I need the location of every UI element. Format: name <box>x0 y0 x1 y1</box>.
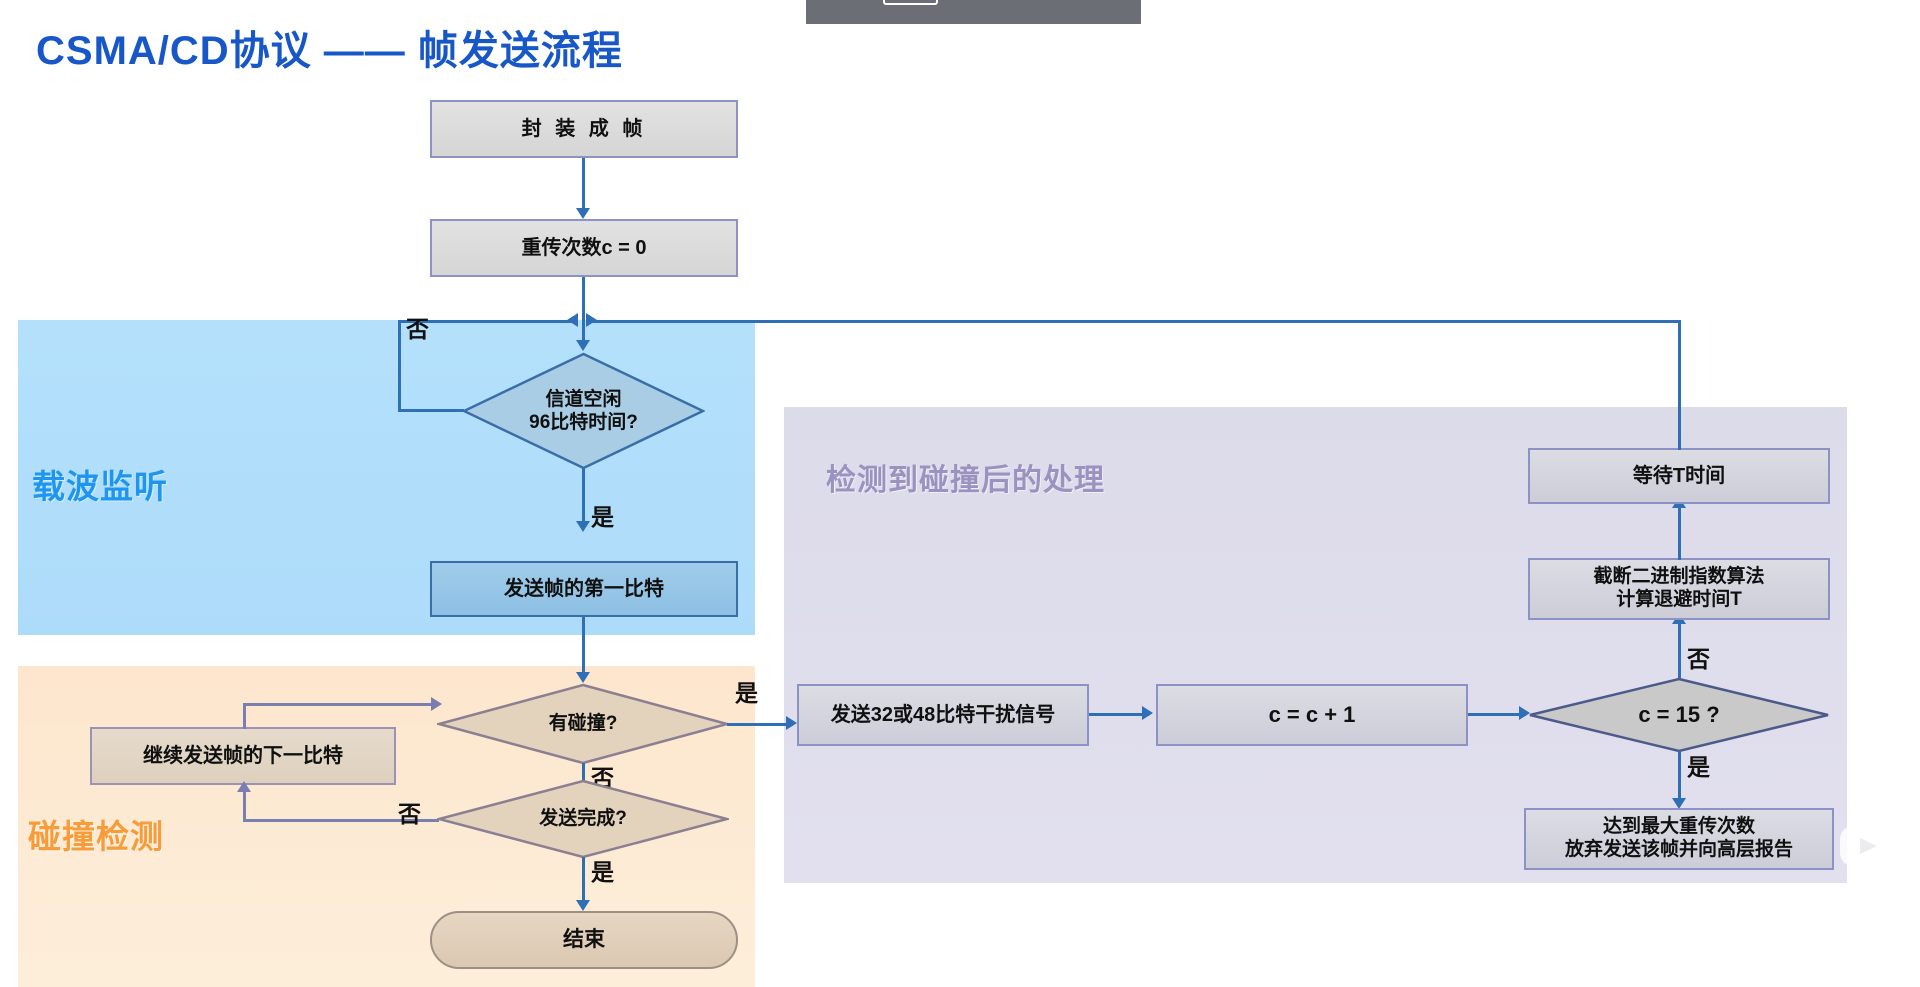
arrowhead-to-send-first-bit <box>576 521 590 532</box>
branch-label-collision-yes: 是 <box>735 674 758 708</box>
fullscreen-hint-suffix: 键可退出全屏模式 <box>943 0 1087 2</box>
page-title: CSMA/CD协议 —— 帧发送流程 <box>36 18 623 76</box>
connector-wait-back-to-junction <box>586 320 1681 323</box>
branch-label-complete-yes: 是 <box>591 853 614 887</box>
connector-idle-no-v <box>398 320 401 412</box>
node-has-collision-label: 有碰撞? <box>437 683 729 765</box>
node-channel-idle-label: 信道空闲 96比特时间? <box>462 352 705 470</box>
branch-label-idle-no: 否 <box>406 310 429 344</box>
branch-label-complete-no: 否 <box>398 795 421 829</box>
connector-first-bit-to-collision <box>582 617 585 679</box>
connector-counter-to-idle <box>582 277 585 347</box>
arrowhead-loop-to-collision <box>431 697 442 711</box>
arrowhead-to-increment <box>1142 706 1153 720</box>
connector-increment-to-c15 <box>1468 713 1526 716</box>
node-send-complete-label: 发送完成? <box>437 779 729 859</box>
arrowhead-to-idle-diamond <box>576 340 590 351</box>
node-send-complete-decision: 发送完成? <box>437 779 729 859</box>
connector-wait-up <box>1678 320 1681 450</box>
connector-idle-no-h <box>398 409 464 412</box>
node-continue-next-bit: 继续发送帧的下一比特 <box>90 727 396 785</box>
node-c-equals-15-label: c = 15 ? <box>1528 677 1830 753</box>
node-channel-idle-decision: 信道空闲 96比特时间? <box>462 352 705 470</box>
connector-idle-yes <box>582 468 585 528</box>
connector-c15-yes <box>1678 751 1681 805</box>
branch-label-idle-yes: 是 <box>591 498 614 532</box>
connector-collision-yes <box>727 723 793 726</box>
branch-label-c15-no: 否 <box>1687 640 1710 674</box>
band-label-collision-detection: 碰撞检测 <box>28 810 164 858</box>
node-send-first-bit: 发送帧的第一比特 <box>430 561 738 617</box>
esc-keycap: ESC <box>883 0 939 5</box>
arrowhead-loop-to-next-bit <box>237 781 251 792</box>
fullscreen-hint-bar: 按ESC键可退出全屏模式 <box>806 0 1141 24</box>
arrowhead-to-send-jam <box>786 716 797 730</box>
band-label-carrier-sense: 载波监听 <box>32 460 168 508</box>
connector-c15-no <box>1678 620 1681 678</box>
fullscreen-hint-prefix: 按 <box>860 0 878 2</box>
arrowhead-to-end <box>576 900 590 911</box>
slide-canvas: 按ESC键可退出全屏模式 CSMA/CD协议 —— 帧发送流程 载波监听 碰撞检… <box>0 0 1920 987</box>
node-end: 结束 <box>430 911 738 969</box>
node-retry-counter-init: 重传次数c = 0 <box>430 219 738 277</box>
branch-label-c15-yes: 是 <box>1687 748 1710 782</box>
connector-jam-to-increment <box>1089 713 1149 716</box>
node-has-collision-decision: 有碰撞? <box>437 683 729 765</box>
node-backoff-algorithm: 截断二进制指数算法 计算退避时间T <box>1528 558 1830 620</box>
bilibili-tv-logo-icon <box>1832 812 1900 872</box>
arrowhead-to-collision-diamond <box>576 672 590 683</box>
connector-next-bit-to-collision <box>243 703 439 706</box>
node-increment-counter: c = c + 1 <box>1156 684 1468 746</box>
band-label-collision-handling: 检测到碰撞后的处理 <box>826 455 1105 499</box>
connector-backoff-to-wait <box>1678 504 1681 560</box>
node-c-equals-15-decision: c = 15 ? <box>1528 677 1830 753</box>
node-encapsulate-frame: 封 装 成 帧 <box>430 100 738 158</box>
tv-play-icon <box>1832 812 1900 872</box>
connector-encapsulate-to-counter <box>582 158 585 212</box>
connector-next-bit-up <box>243 703 246 729</box>
node-send-jam-signal: 发送32或48比特干扰信号 <box>797 684 1089 746</box>
arrowhead-to-counter <box>576 208 590 219</box>
node-wait-t: 等待T时间 <box>1528 448 1830 504</box>
node-max-retry-reached: 达到最大重传次数 放弃发送该帧并向高层报告 <box>1524 808 1834 870</box>
